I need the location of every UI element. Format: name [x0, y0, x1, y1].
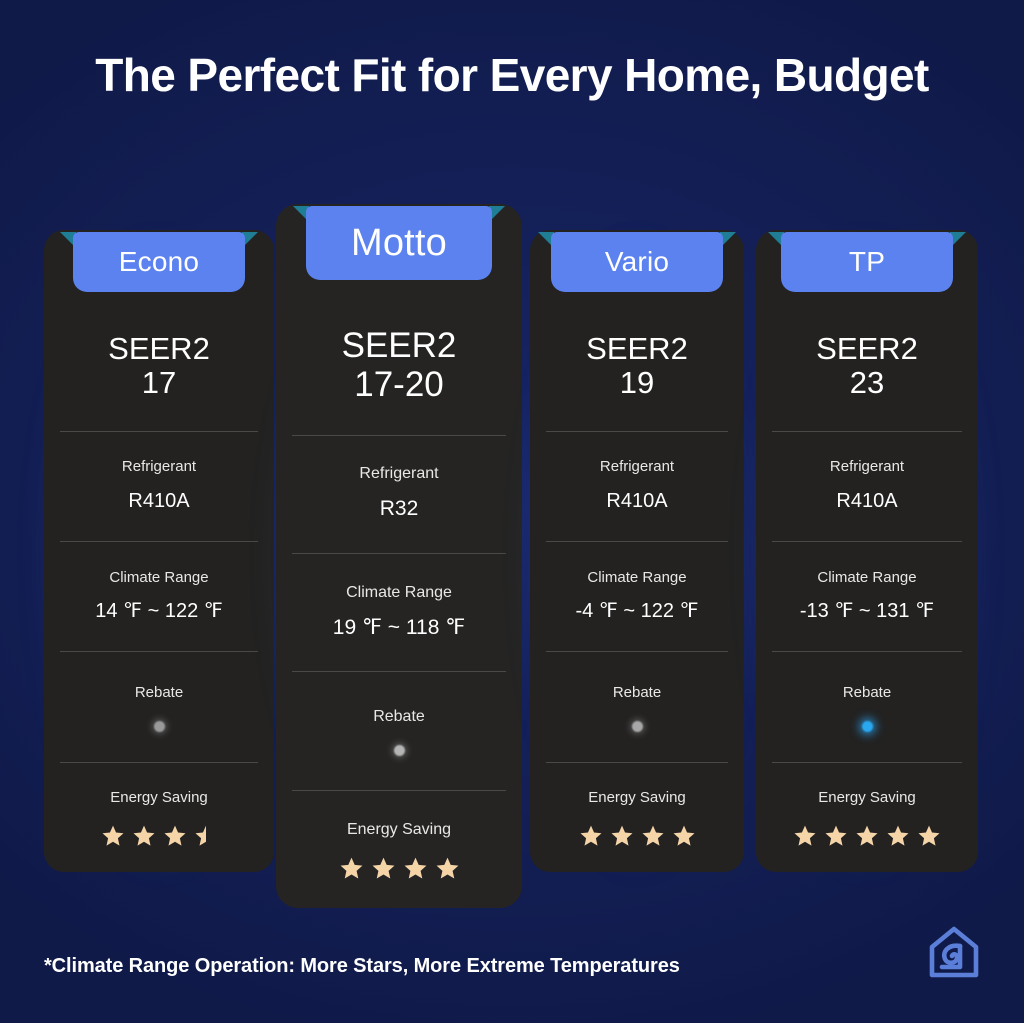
row-refrigerant: RefrigerantR32	[292, 436, 506, 554]
star-full-icon	[793, 824, 817, 848]
footnote: *Climate Range Operation: More Stars, Mo…	[44, 955, 680, 978]
star-full-icon	[435, 856, 460, 881]
refrigerant-label: Refrigerant	[122, 456, 196, 479]
star-full-icon	[917, 824, 941, 848]
card-ribbon-tab[interactable]: Motto	[306, 206, 492, 280]
card-ribbon-tab[interactable]: Econo	[73, 232, 245, 292]
row-rebate: Rebate	[60, 652, 258, 762]
row-energy-saving: Energy Saving	[292, 791, 506, 908]
card-title: TP	[849, 248, 885, 276]
star-half-icon	[194, 824, 218, 848]
seer-value: 17	[142, 366, 176, 401]
ribbon-body: TP	[781, 232, 953, 292]
seer-value: 23	[850, 366, 884, 401]
climate-range-label: Climate Range	[109, 567, 208, 590]
house-spiral-logo	[926, 924, 982, 980]
star-full-icon	[132, 824, 156, 848]
energy-saving-label: Energy Saving	[110, 787, 208, 810]
star-full-icon	[855, 824, 879, 848]
card-surface: SEER217RefrigerantR410AClimate Range14 ℉…	[44, 230, 274, 872]
product-card-vario[interactable]: SEER219RefrigerantR410AClimate Range-4 ℉…	[530, 196, 744, 908]
row-climate-range: Climate Range14 ℉ ~ 122 ℉	[60, 542, 258, 652]
ribbon-body: Vario	[551, 232, 723, 292]
seer-label: SEER2	[816, 332, 918, 367]
product-card-motto[interactable]: SEER217-20RefrigerantR32Climate Range19 …	[276, 196, 522, 908]
rebate-label: Rebate	[613, 682, 661, 705]
climate-range-value: 14 ℉ ~ 122 ℉	[95, 595, 223, 627]
refrigerant-value: R410A	[606, 485, 667, 517]
card-title: Motto	[351, 224, 447, 262]
card-ribbon-tab[interactable]: TP	[781, 232, 953, 292]
rebate-label: Rebate	[135, 682, 183, 705]
star-full-icon	[672, 824, 696, 848]
seer-label: SEER2	[586, 332, 688, 367]
row-refrigerant: RefrigerantR410A	[546, 432, 728, 542]
refrigerant-value: R410A	[836, 485, 897, 517]
ribbon-body: Motto	[306, 206, 492, 280]
seer-label: SEER2	[108, 332, 210, 367]
product-card-tp[interactable]: SEER223RefrigerantR410AClimate Range-13 …	[756, 196, 978, 908]
star-full-icon	[824, 824, 848, 848]
refrigerant-value: R32	[380, 492, 419, 526]
climate-range-label: Climate Range	[346, 581, 452, 605]
rebate-status-dot	[394, 745, 405, 756]
energy-saving-rating	[793, 824, 941, 848]
seer-value: 17-20	[354, 365, 444, 404]
ribbon-body: Econo	[73, 232, 245, 292]
comparison-card-deck: SEER217RefrigerantR410AClimate Range14 ℉…	[0, 196, 1024, 908]
climate-range-label: Climate Range	[817, 567, 916, 590]
row-energy-saving: Energy Saving	[772, 763, 962, 872]
star-full-icon	[339, 856, 364, 881]
star-full-icon	[101, 824, 125, 848]
star-full-icon	[641, 824, 665, 848]
row-climate-range: Climate Range-4 ℉ ~ 122 ℉	[546, 542, 728, 652]
climate-range-value: -13 ℉ ~ 131 ℉	[800, 595, 934, 627]
energy-saving-label: Energy Saving	[347, 818, 451, 842]
card-title: Vario	[605, 248, 669, 276]
row-energy-saving: Energy Saving	[60, 763, 258, 872]
climate-range-value: 19 ℉ ~ 118 ℉	[333, 611, 465, 645]
energy-saving-rating	[579, 824, 696, 848]
card-ribbon-tab[interactable]: Vario	[551, 232, 723, 292]
refrigerant-label: Refrigerant	[600, 456, 674, 479]
row-climate-range: Climate Range-13 ℉ ~ 131 ℉	[772, 542, 962, 652]
star-full-icon	[579, 824, 603, 848]
rebate-status-dot	[154, 721, 165, 732]
energy-saving-label: Energy Saving	[818, 787, 916, 810]
card-surface: SEER217-20RefrigerantR32Climate Range19 …	[276, 204, 522, 908]
star-full-icon	[610, 824, 634, 848]
row-refrigerant: RefrigerantR410A	[60, 432, 258, 542]
product-card-econo[interactable]: SEER217RefrigerantR410AClimate Range14 ℉…	[44, 196, 274, 908]
star-full-icon	[371, 856, 396, 881]
row-rebate: Rebate	[546, 652, 728, 762]
energy-saving-rating	[101, 824, 218, 848]
row-refrigerant: RefrigerantR410A	[772, 432, 962, 542]
rebate-status-dot	[632, 721, 643, 732]
star-full-icon	[403, 856, 428, 881]
row-climate-range: Climate Range19 ℉ ~ 118 ℉	[292, 554, 506, 672]
card-surface: SEER223RefrigerantR410AClimate Range-13 …	[756, 230, 978, 872]
refrigerant-value: R410A	[128, 485, 189, 517]
refrigerant-label: Refrigerant	[830, 456, 904, 479]
seer-label: SEER2	[342, 326, 457, 365]
row-energy-saving: Energy Saving	[546, 763, 728, 872]
rebate-label: Rebate	[373, 705, 425, 729]
card-title: Econo	[119, 248, 199, 276]
refrigerant-label: Refrigerant	[359, 462, 438, 486]
energy-saving-rating	[339, 856, 460, 881]
rebate-status-dot	[862, 721, 873, 732]
rebate-label: Rebate	[843, 682, 891, 705]
row-rebate: Rebate	[292, 672, 506, 790]
page-title: The Perfect Fit for Every Home, Budget	[0, 48, 1024, 102]
energy-saving-label: Energy Saving	[588, 787, 686, 810]
card-surface: SEER219RefrigerantR410AClimate Range-4 ℉…	[530, 230, 744, 872]
climate-range-label: Climate Range	[587, 567, 686, 590]
star-full-icon	[163, 824, 187, 848]
row-rebate: Rebate	[772, 652, 962, 762]
climate-range-value: -4 ℉ ~ 122 ℉	[575, 595, 698, 627]
star-full-icon	[886, 824, 910, 848]
seer-value: 19	[620, 366, 654, 401]
